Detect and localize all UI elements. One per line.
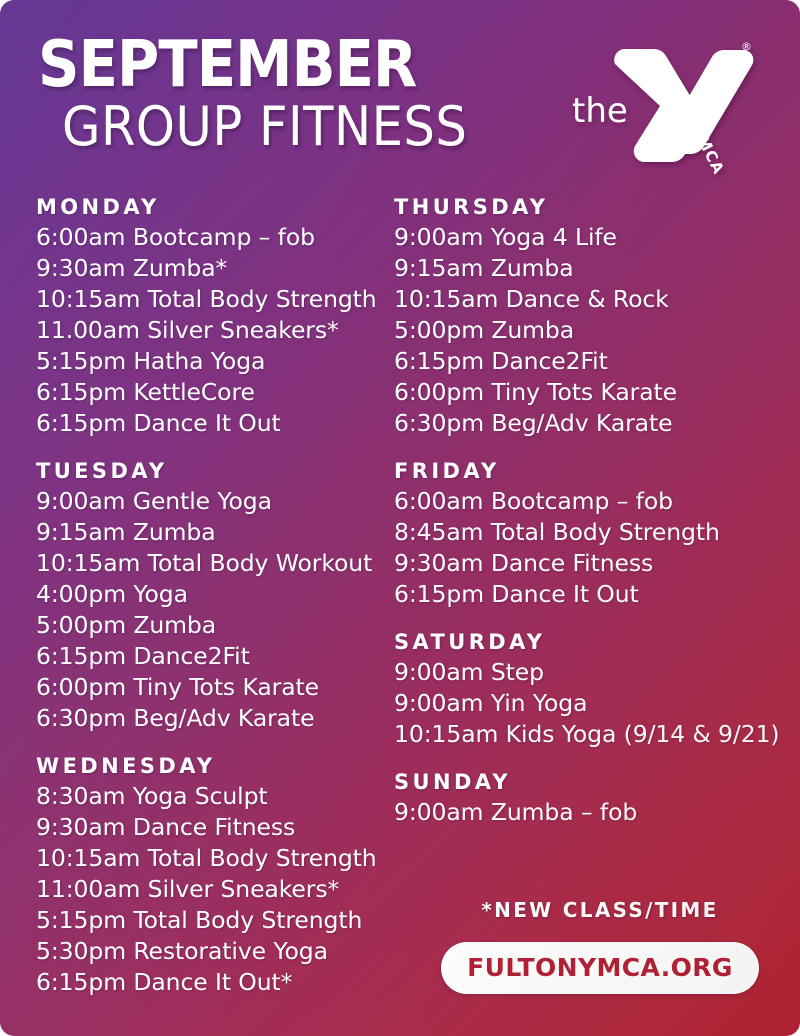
class-entry: 9:30am Zumba* (36, 253, 372, 284)
logo-the-text: the (572, 91, 628, 131)
day-block-wednesday: WEDNESDAY8:30am Yoga Sculpt9:30am Dance … (36, 751, 372, 998)
class-entry: 9:00am Yoga 4 Life (394, 222, 800, 253)
class-entry: 5:15pm Total Body Strength (36, 905, 372, 936)
day-heading-wednesday: WEDNESDAY (36, 751, 372, 781)
day-block-sunday: SUNDAY9:00am Zumba – fob (394, 767, 800, 828)
day-block-friday: FRIDAY6:00am Bootcamp – fob8:45am Total … (394, 456, 800, 610)
class-entry: 6:30pm Beg/Adv Karate (394, 408, 800, 439)
day-heading-thursday: THURSDAY (394, 192, 800, 222)
class-entry: 5:00pm Zumba (36, 610, 372, 641)
schedule-column-right: THURSDAY9:00am Yoga 4 Life9:15am Zumba10… (372, 192, 800, 998)
class-entry: 9:15am Zumba (394, 253, 800, 284)
class-entry: 6:15pm Dance It Out (36, 408, 372, 439)
class-entry: 9:00am Yin Yoga (394, 688, 800, 719)
class-entry: 6:00pm Tiny Tots Karate (36, 672, 372, 703)
day-heading-monday: MONDAY (36, 192, 372, 222)
class-entry: 11.00am Silver Sneakers* (36, 315, 372, 346)
class-entry: 10:15am Total Body Strength (36, 284, 372, 315)
day-heading-saturday: SATURDAY (394, 627, 800, 657)
day-block-thursday: THURSDAY9:00am Yoga 4 Life9:15am Zumba10… (394, 192, 800, 439)
class-entry: 6:00am Bootcamp – fob (394, 486, 800, 517)
class-entry: 9:00am Gentle Yoga (36, 486, 372, 517)
page-title: SEPTEMBER (38, 34, 456, 96)
day-heading-friday: FRIDAY (394, 456, 800, 486)
schedule-column-left: MONDAY6:00am Bootcamp – fob9:30am Zumba*… (0, 192, 372, 998)
class-entry: 6:15pm Dance2Fit (36, 641, 372, 672)
new-class-note: *NEW CLASS/TIME (440, 898, 760, 922)
class-entry: 10:15am Total Body Workout (36, 548, 372, 579)
class-entry: 6:15pm Dance It Out* (36, 967, 372, 998)
class-entry: 6:15pm Dance2Fit (394, 346, 800, 377)
fitness-schedule-flyer: SEPTEMBER GROUP FITNESS the (0, 0, 800, 1036)
class-entry: 9:00am Step (394, 657, 800, 688)
class-entry: 8:30am Yoga Sculpt (36, 781, 372, 812)
class-entry: 9:30am Dance Fitness (394, 548, 800, 579)
schedule-columns: MONDAY6:00am Bootcamp – fob9:30am Zumba*… (0, 192, 800, 998)
day-block-monday: MONDAY6:00am Bootcamp – fob9:30am Zumba*… (36, 192, 372, 439)
day-block-tuesday: TUESDAY9:00am Gentle Yoga9:15am Zumba10:… (36, 456, 372, 734)
class-entry: 10:15am Kids Yoga (9/14 & 9/21) (394, 719, 800, 750)
class-entry: 6:15pm Dance It Out (394, 579, 800, 610)
registered-trademark-icon: ® (741, 40, 752, 53)
ymca-logo: the YMCA ® (568, 36, 758, 181)
class-entry: 5:30pm Restorative Yoga (36, 936, 372, 967)
class-entry: 5:00pm Zumba (394, 315, 800, 346)
class-entry: 9:00am Zumba – fob (394, 797, 800, 828)
flyer-header: SEPTEMBER GROUP FITNESS the (0, 0, 800, 188)
page-subtitle: GROUP FITNESS (62, 99, 467, 155)
class-entry: 9:15am Zumba (36, 517, 372, 548)
class-entry: 8:45am Total Body Strength (394, 517, 800, 548)
class-entry: 6:00pm Tiny Tots Karate (394, 377, 800, 408)
class-entry: 6:00am Bootcamp – fob (36, 222, 372, 253)
flyer-footer: *NEW CLASS/TIME FULTONYMCA.ORG (440, 898, 760, 994)
website-url-button[interactable]: FULTONYMCA.ORG (441, 942, 759, 994)
class-entry: 9:30am Dance Fitness (36, 812, 372, 843)
class-entry: 11:00am Silver Sneakers* (36, 874, 372, 905)
day-block-saturday: SATURDAY9:00am Step9:00am Yin Yoga10:15a… (394, 627, 800, 750)
class-entry: 4:00pm Yoga (36, 579, 372, 610)
website-url-text: FULTONYMCA.ORG (467, 953, 733, 982)
class-entry: 5:15pm Hatha Yoga (36, 346, 372, 377)
class-entry: 10:15am Dance & Rock (394, 284, 800, 315)
class-entry: 10:15am Total Body Strength (36, 843, 372, 874)
title-block: SEPTEMBER GROUP FITNESS (38, 34, 503, 155)
class-entry: 6:15pm KettleCore (36, 377, 372, 408)
day-heading-sunday: SUNDAY (394, 767, 800, 797)
class-entry: 6:30pm Beg/Adv Karate (36, 703, 372, 734)
day-heading-tuesday: TUESDAY (36, 456, 372, 486)
